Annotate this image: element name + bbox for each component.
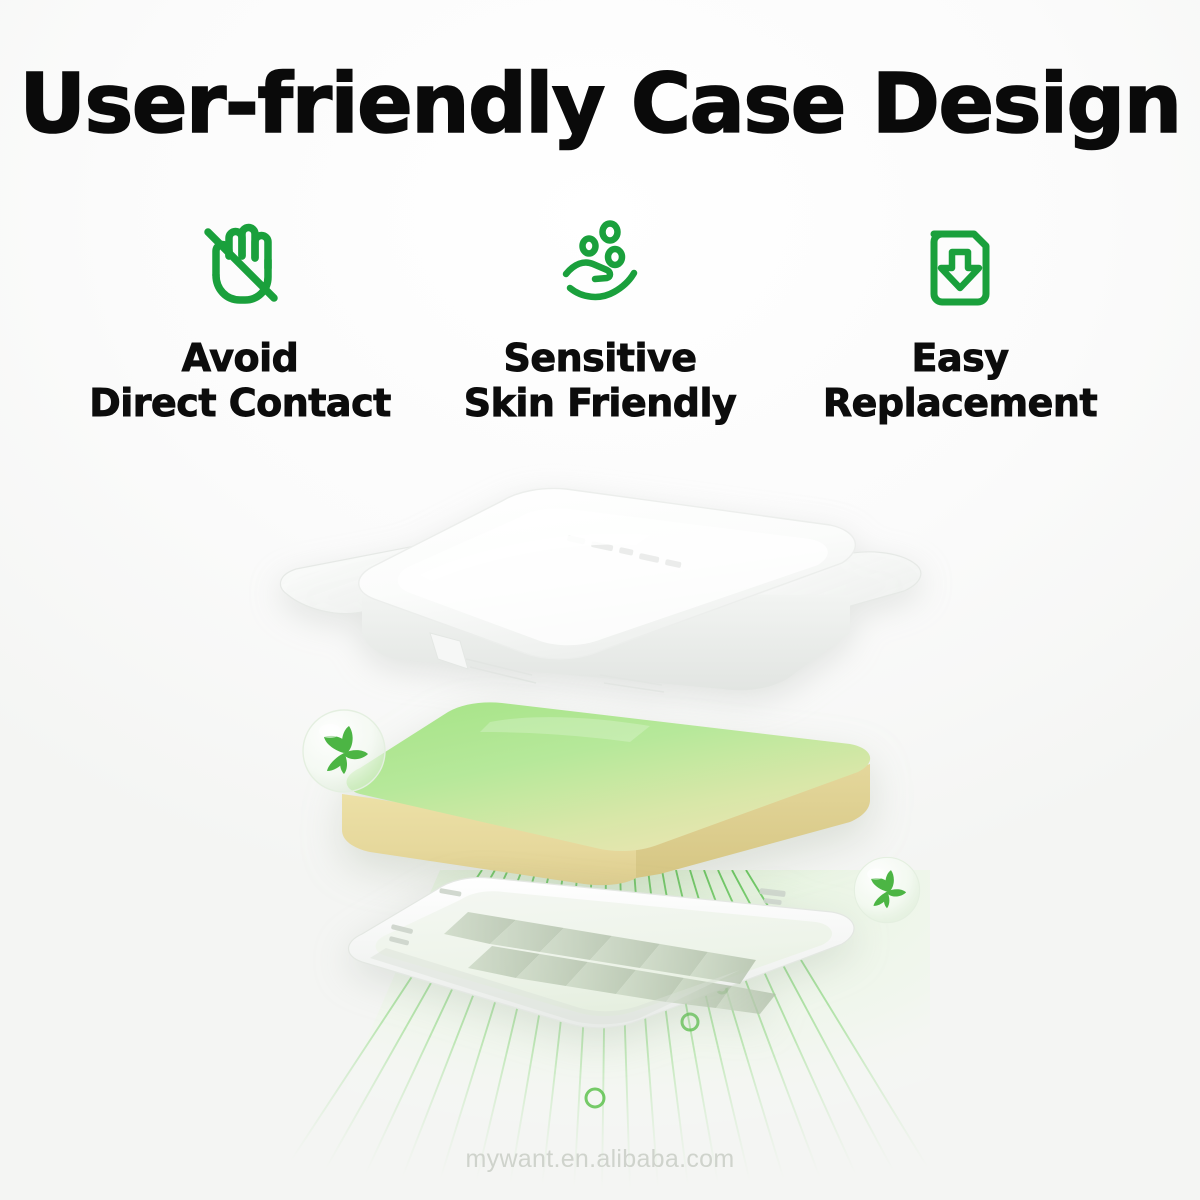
product-infographic-page: User-friendly Case Design Avoid Direct C… (0, 0, 1200, 1200)
feature-label: Avoid Direct Contact (89, 336, 391, 426)
feature-easy-replacement: Easy Replacement (780, 210, 1140, 426)
watermark: mywant.en.alibaba.com (0, 1145, 1200, 1174)
feature-label: Sensitive Skin Friendly (464, 336, 737, 426)
product-exploded-view (0, 455, 1200, 1155)
hand-with-bubbles-icon (548, 210, 652, 318)
download-replace-icon (908, 210, 1012, 318)
feature-sensitive-skin-friendly: Sensitive Skin Friendly (420, 210, 780, 426)
feature-label: Easy Replacement (823, 336, 1097, 426)
no-touch-hand-icon (188, 210, 292, 318)
feature-row: Avoid Direct Contact Sensitive Skin F (60, 210, 1140, 426)
feature-avoid-direct-contact: Avoid Direct Contact (60, 210, 420, 426)
page-title: User-friendly Case Design (0, 64, 1200, 146)
transparent-lid (270, 483, 930, 698)
vented-base-tray (340, 860, 880, 1040)
mint-leaf-bubble-left (300, 707, 388, 795)
mint-leaf-bubble-right (852, 855, 922, 925)
